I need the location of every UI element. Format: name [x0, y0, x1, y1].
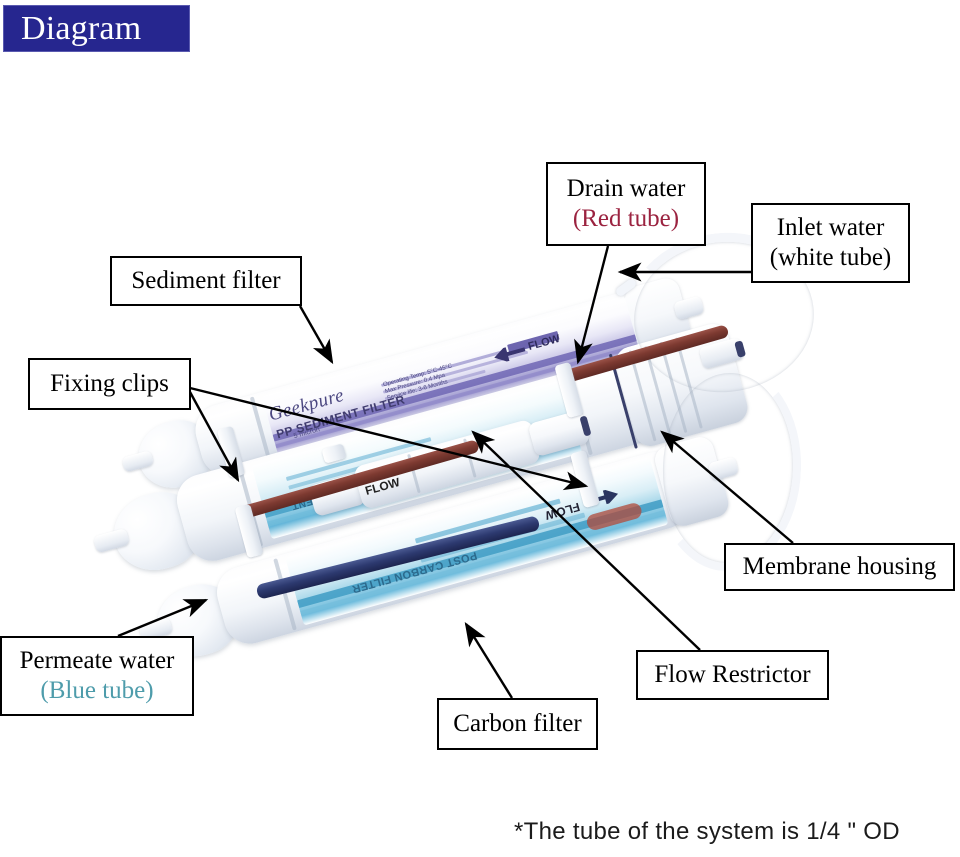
- callout-sediment-filter-line-0: Sediment filter: [131, 266, 280, 296]
- callout-inlet-water[interactable]: Inlet water (white tube): [751, 203, 910, 283]
- callout-carbon-filter-line-0: Carbon filter: [453, 709, 581, 739]
- callout-carbon-filter[interactable]: Carbon filter: [437, 698, 598, 750]
- callout-drain-water[interactable]: Drain water (Red tube): [546, 162, 706, 246]
- page-title-badge: Diagram: [3, 5, 190, 52]
- callout-drain-water-line-1: (Red tube): [573, 204, 679, 234]
- callout-fixing-clips-line-0: Fixing clips: [50, 369, 169, 399]
- callout-inlet-water-line-1: (white tube): [770, 243, 891, 273]
- callout-sediment-filter[interactable]: Sediment filter: [110, 256, 302, 306]
- callout-membrane-housing[interactable]: Membrane housing: [724, 543, 955, 591]
- callout-drain-water-line-0: Drain water: [567, 174, 686, 204]
- page-title: Diagram: [4, 12, 141, 46]
- callout-permeate-water-line-1: (Blue tube): [40, 676, 153, 706]
- ro-system-photo: Geekpure PP SEDIMENT FILTER Operating Te…: [95, 255, 885, 675]
- diagram-canvas: Diagram Geekpure PP SEDIMENT FILTER Oper…: [0, 0, 960, 857]
- callout-fixing-clips[interactable]: Fixing clips: [28, 358, 191, 410]
- callout-permeate-water-line-0: Permeate water: [20, 646, 175, 676]
- callout-membrane-housing-line-0: Membrane housing: [743, 552, 937, 582]
- callout-flow-restrictor[interactable]: Flow Restrictor: [636, 650, 829, 700]
- callout-flow-restrictor-line-0: Flow Restrictor: [654, 660, 810, 690]
- callout-inlet-water-line-0: Inlet water: [777, 213, 885, 243]
- callout-permeate-water[interactable]: Permeate water (Blue tube): [0, 636, 194, 716]
- footnote-text: *The tube of the system is 1/4 " OD: [514, 818, 900, 846]
